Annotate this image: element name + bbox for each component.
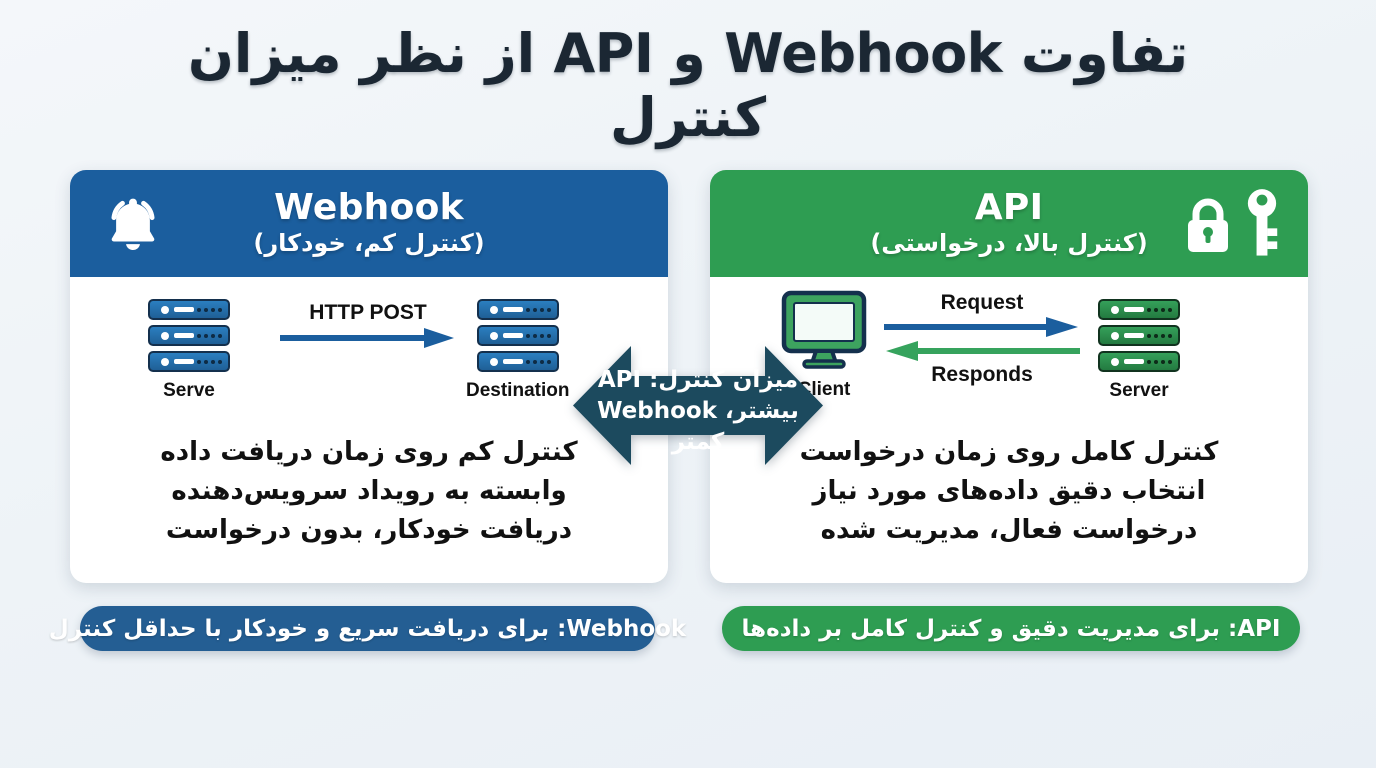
webhook-target-node: Destination [466, 299, 569, 402]
arrow-left-icon [882, 339, 1082, 363]
api-summary-pill: API: برای مدیریت دقیق و کنترل کامل بر دا… [722, 606, 1300, 651]
key-lock-icon-group [1182, 187, 1284, 261]
arrow-right-icon [882, 315, 1082, 339]
webhook-source-node: Serve [148, 299, 230, 402]
responds-label: Responds [931, 363, 1033, 387]
webhook-point-2: وابسته به رویداد سرویس‌دهنده [94, 472, 644, 511]
server-stack-icon [148, 299, 230, 372]
server-stack-icon [477, 299, 559, 372]
webhook-flow: HTTP POST [278, 301, 458, 351]
lock-icon [1182, 194, 1234, 254]
api-responds-flow: Responds [882, 339, 1082, 387]
request-label: Request [941, 291, 1024, 315]
key-icon [1240, 187, 1284, 261]
api-server-label: Server [1109, 380, 1168, 402]
infographic-root: تفاوت Webhook و API از نظر میزان کنترل W… [0, 0, 1376, 768]
webhook-source-label: Serve [163, 380, 215, 402]
http-post-label: HTTP POST [309, 301, 426, 325]
api-card-header: API (کنترل بالا، درخواستی) [710, 170, 1308, 277]
webhook-summary-pill: Webhook: برای دریافت سریع و خودکار با حد… [80, 606, 655, 651]
webhook-card-header: Webhook (کنترل کم، خودکار) [70, 170, 668, 277]
api-server-node: Server [1098, 299, 1180, 402]
webhook-point-3: دریافت خودکار، بدون درخواست [94, 511, 644, 550]
bell-icon [96, 187, 170, 261]
double-arrow-icon [573, 328, 823, 483]
api-point-3: درخواست فعال، مدیریت شده [734, 511, 1284, 550]
api-request-flow: Request [882, 291, 1082, 339]
webhook-target-label: Destination [466, 380, 569, 402]
page-title: تفاوت Webhook و API از نظر میزان کنترل [0, 22, 1376, 149]
webhook-point-1: کنترل کم روی زمان دریافت داده [94, 433, 644, 472]
server-stack-icon [1098, 299, 1180, 372]
arrow-right-icon [278, 325, 458, 351]
